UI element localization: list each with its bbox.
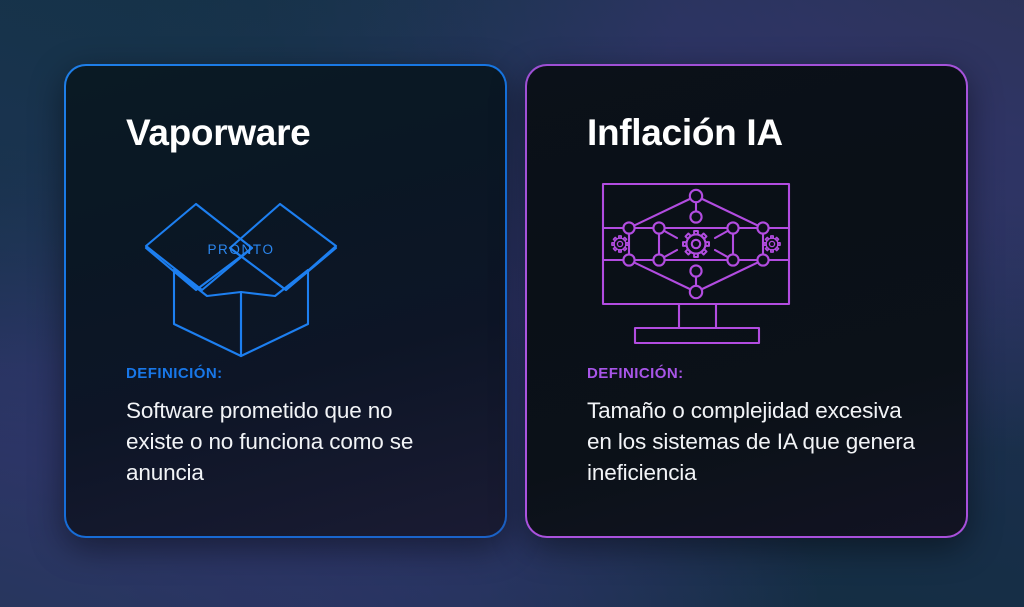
definition-text: Tamaño o complejidad excesiva en los sis… bbox=[587, 395, 928, 488]
card-icon-container: PRONTO bbox=[126, 171, 467, 361]
definition-label: DEFINICIÓN: bbox=[126, 365, 467, 382]
definition-block: DEFINICIÓN: Software prometido que no ex… bbox=[126, 365, 467, 510]
card-content: Vaporware bbox=[66, 66, 505, 536]
pronto-label: PRONTO bbox=[207, 242, 274, 257]
definition-text: Software prometido que no existe o no fu… bbox=[126, 395, 456, 488]
definition-label: DEFINICIÓN: bbox=[587, 365, 928, 382]
monitor-network-gears-icon bbox=[595, 176, 800, 356]
card-icon-container bbox=[587, 171, 928, 361]
definition-block: DEFINICIÓN: Tamaño o complejidad excesiv… bbox=[587, 365, 928, 510]
card-title: Inflación IA bbox=[587, 114, 928, 151]
card-title: Vaporware bbox=[126, 114, 467, 151]
open-box-icon: PRONTO bbox=[134, 174, 349, 359]
glossary-card-row: Vaporware bbox=[0, 0, 1024, 607]
glossary-card-vaporware[interactable]: Vaporware bbox=[64, 64, 507, 538]
glossary-card-inflacion-ia[interactable]: Inflación IA bbox=[525, 64, 968, 538]
card-content: Inflación IA bbox=[527, 66, 966, 536]
